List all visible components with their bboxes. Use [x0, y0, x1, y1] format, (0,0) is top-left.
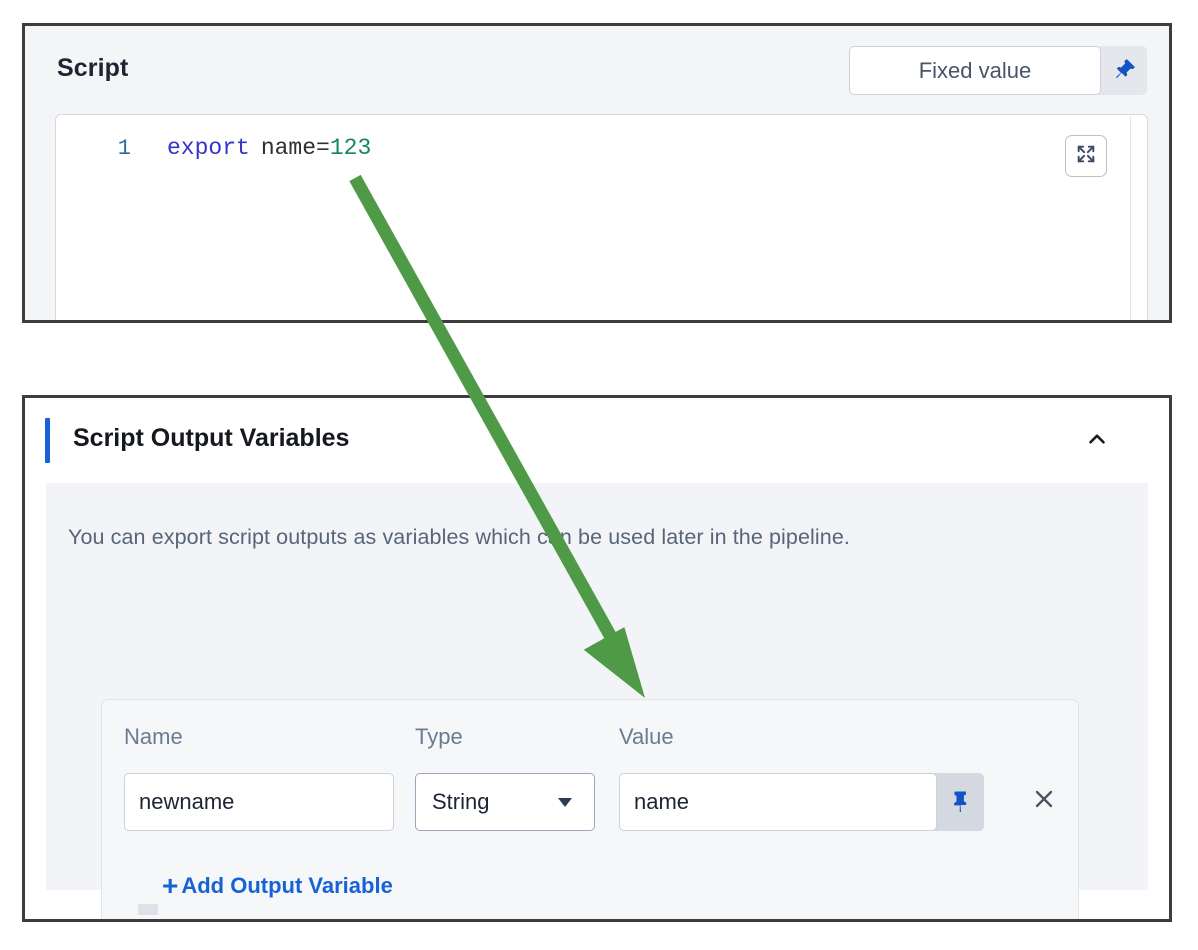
- variable-value-pin-button[interactable]: [937, 773, 984, 831]
- variable-value-group: [619, 773, 984, 831]
- code-token-variable: name=: [250, 135, 330, 161]
- add-output-variable-label: Add Output Variable: [181, 873, 392, 899]
- code-token-number: 123: [330, 135, 371, 161]
- panel-bottom-nub: [138, 904, 158, 915]
- expand-fullscreen-icon: [1075, 143, 1097, 170]
- output-variables-body: You can export script outputs as variabl…: [46, 483, 1148, 890]
- script-panel: Script Fixed value 1 exportname=123: [22, 23, 1172, 323]
- output-variables-header: Script Output Variables: [25, 398, 1169, 483]
- variable-type-select[interactable]: String: [415, 773, 595, 831]
- remove-variable-button[interactable]: [1022, 773, 1066, 831]
- code-line-content: exportname=123: [131, 135, 371, 161]
- script-pin-button[interactable]: [1101, 46, 1147, 95]
- code-line-number: 1: [56, 136, 131, 161]
- chevron-up-icon: [1084, 426, 1110, 457]
- output-variable-row: String: [102, 773, 1078, 833]
- code-token-keyword: export: [167, 135, 250, 161]
- script-panel-title: Script: [57, 54, 128, 83]
- pushpin-icon: [1106, 52, 1143, 89]
- add-output-variable-button[interactable]: + Add Output Variable: [162, 872, 393, 900]
- chevron-down-icon: [558, 798, 572, 807]
- editor-vertical-scrollbar[interactable]: [1130, 116, 1147, 323]
- variable-name-input[interactable]: [124, 773, 394, 831]
- expand-editor-button[interactable]: [1065, 135, 1107, 177]
- fixed-value-button[interactable]: Fixed value: [849, 46, 1101, 95]
- code-line-1: 1 exportname=123: [56, 135, 371, 161]
- output-variables-description: You can export script outputs as variabl…: [68, 525, 850, 550]
- plus-icon: +: [162, 872, 178, 900]
- variable-type-value: String: [416, 789, 558, 815]
- column-headers: Name Type Value: [102, 724, 1078, 758]
- script-output-variables-panel: Script Output Variables You can export s…: [22, 395, 1172, 922]
- close-x-icon: [1032, 786, 1056, 818]
- script-panel-header: Script Fixed value: [25, 26, 1169, 114]
- output-variables-title: Script Output Variables: [73, 424, 349, 453]
- column-header-type: Type: [415, 724, 463, 750]
- column-header-name: Name: [124, 724, 183, 750]
- value-mode-group: Fixed value: [849, 46, 1147, 95]
- output-variables-card: Name Type Value String: [101, 699, 1079, 922]
- collapse-section-button[interactable]: [1080, 424, 1114, 458]
- script-code-editor[interactable]: 1 exportname=123: [55, 114, 1148, 323]
- column-header-value: Value: [619, 724, 674, 750]
- pushpin-icon: [949, 788, 973, 817]
- variable-value-input[interactable]: [619, 773, 937, 831]
- section-accent-bar: [45, 418, 50, 463]
